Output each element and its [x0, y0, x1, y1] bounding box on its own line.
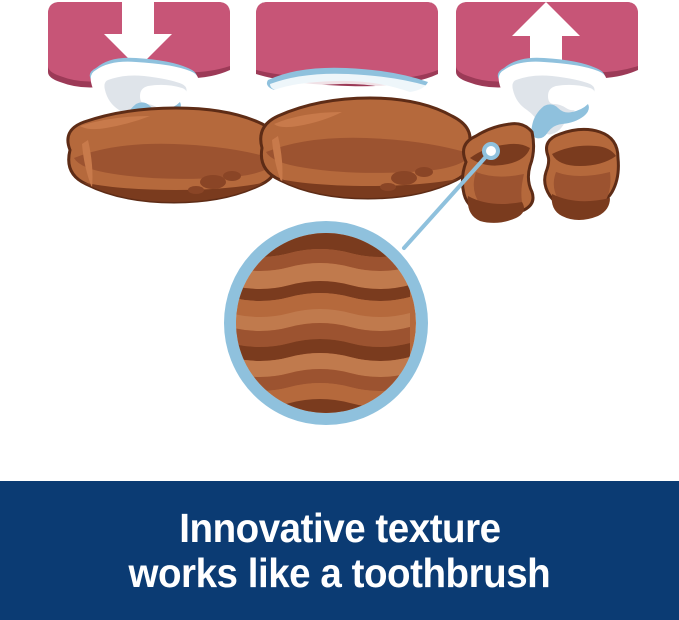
panel-press-down	[48, 2, 284, 208]
panel-contact	[256, 2, 480, 206]
panel-release-up	[456, 2, 638, 223]
caption-line-2: works like a toothbrush	[129, 551, 551, 596]
caption-line-1: Innovative texture	[179, 506, 500, 551]
caption-banner: Innovative texture works like a toothbru…	[0, 481, 679, 620]
illustration-canvas	[0, 0, 679, 481]
magnifier-leader-endpoint	[484, 144, 498, 158]
product-infographic: Innovative texture works like a toothbru…	[0, 0, 679, 620]
